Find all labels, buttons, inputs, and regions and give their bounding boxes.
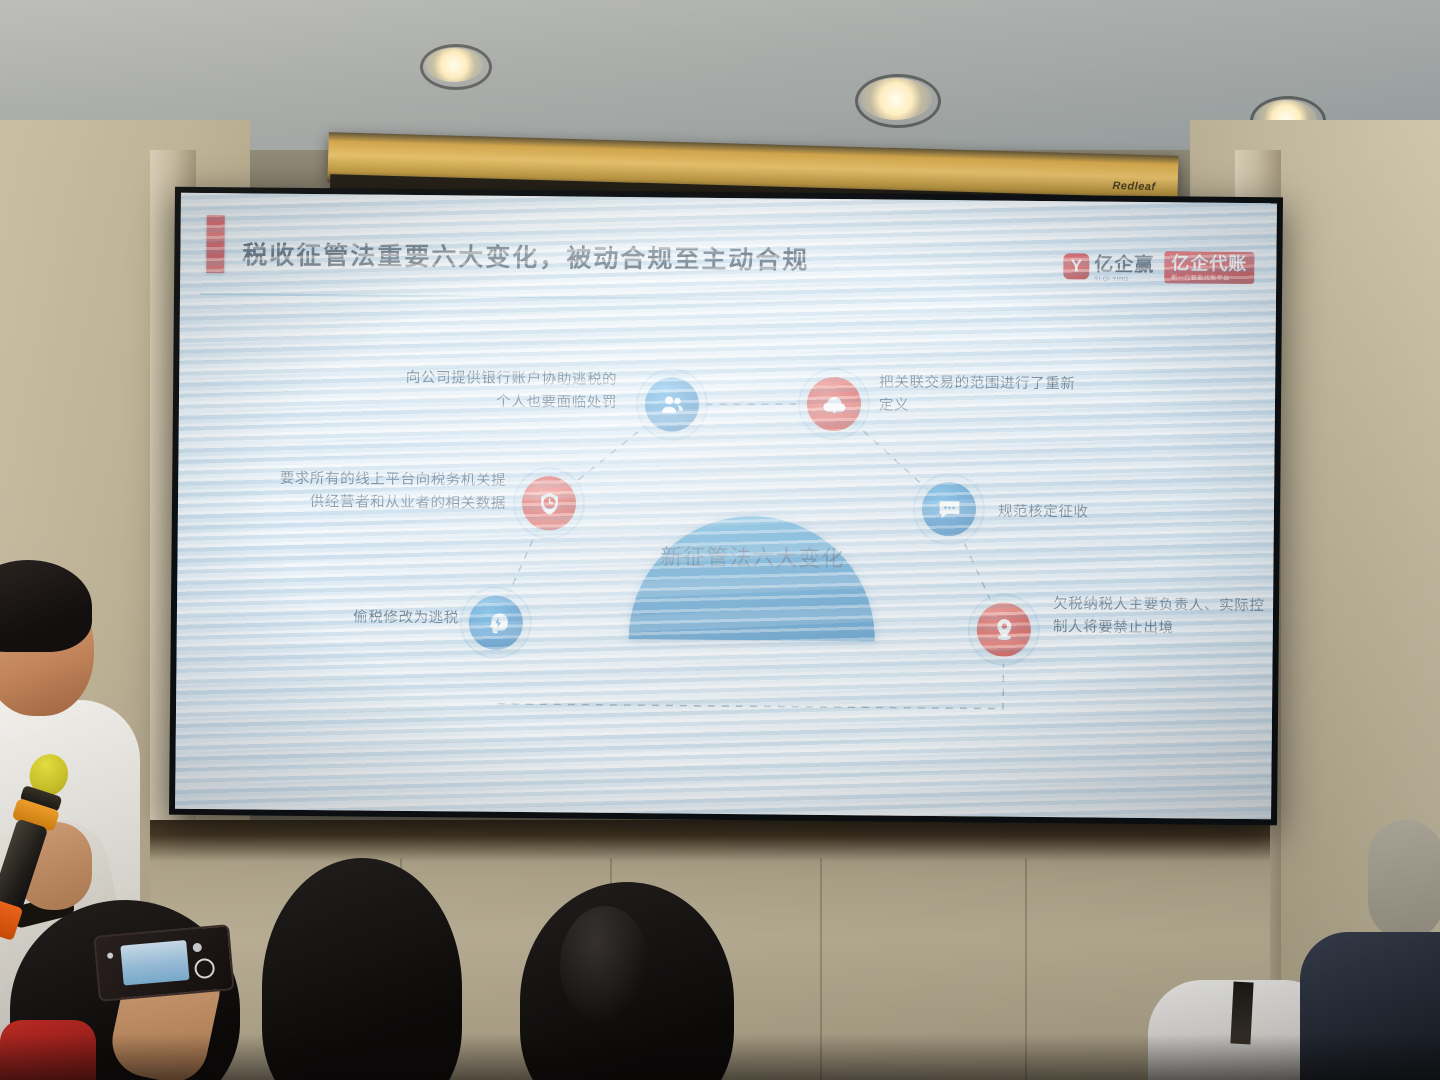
node-2-label: 把关联交易的范围进行了重新定义 [879,371,1089,420]
location-pin-icon [990,616,1017,643]
clock-shield-icon [535,490,562,517]
six-changes-diagram: 新征管法六大变化 向公司提供银行账户协助逃税的个人也要面临处罚 [175,333,1275,813]
presentation-slide: 税收征管法重要六大变化，被动合规至主动合规 Y 亿企赢 YI QI YING 亿… [175,193,1277,819]
phone-screen-preview [120,940,189,986]
ceiling-downlight [860,78,932,120]
center-dome-label: 新征管法六大变化 [629,543,875,573]
conference-room-scene: Redleaf 税收征管法重要六大变化，被动合规至主动合规 Y 亿企赢 YI Q… [0,0,1440,1080]
projection-screen: 税收征管法重要六大变化，被动合规至主动合规 Y 亿企赢 YI QI YING 亿… [175,193,1277,819]
slide-title: 税收征管法重要六大变化，被动合规至主动合规 [242,235,809,276]
projection-screen-frame: 税收征管法重要六大变化，被动合规至主动合规 Y 亿企赢 YI QI YING 亿… [169,187,1283,826]
node-5-label: 偷税修改为逃税 [283,606,459,631]
node-2-cloud[interactable] [807,377,862,432]
logo-secondary: 亿企代账 新一代智能代账平台 [1164,251,1254,284]
node-3-clock-shield[interactable] [522,476,577,531]
logo-secondary-name: 亿企代账 [1171,254,1247,273]
brand-mark-icon: Y [1063,253,1089,279]
users-icon [658,391,685,418]
logo-group: Y 亿企赢 YI QI YING 亿企代账 新一代智能代账平台 [1063,249,1254,284]
ceiling-downlight [425,48,483,82]
hair-highlight [560,906,650,1026]
logo-primary: Y 亿企赢 YI QI YING [1063,249,1154,283]
foreground-shadow [0,1034,1440,1080]
smartphone-camera [93,924,234,1002]
phone-flash-icon [107,952,114,959]
cloud-upload-icon [820,390,847,417]
audience-member-head [1368,820,1440,940]
node-6-location-pin[interactable] [977,602,1032,657]
node-4-chat[interactable] [922,482,977,537]
node-1-label: 向公司提供银行账户协助逃税的个人也要面临处罚 [395,367,617,416]
node-4-label: 规范核定征收 [998,501,1198,526]
phone-shutter-button [194,958,216,980]
chat-bubble-icon [935,496,962,523]
speaker-hair [0,560,92,652]
node-3-label: 要求所有的线上平台向税务机关提供经营者和从业者的相关数据 [274,468,506,517]
valance-brand-label: Redleaf [1112,180,1156,193]
node-6-label: 欠税纳税人主要负责人、实际控制人将要禁止出境 [1053,593,1265,642]
node-1-users[interactable] [645,377,700,432]
title-accent-bar [206,215,225,273]
logo-primary-name: 亿企赢 [1094,250,1154,278]
head-idea-icon [482,609,509,636]
node-5-head-idea[interactable] [469,596,524,651]
logo-primary-sub: YI QI YING [1094,277,1154,284]
title-underline [200,293,1260,305]
phone-lens-icon [192,943,202,953]
